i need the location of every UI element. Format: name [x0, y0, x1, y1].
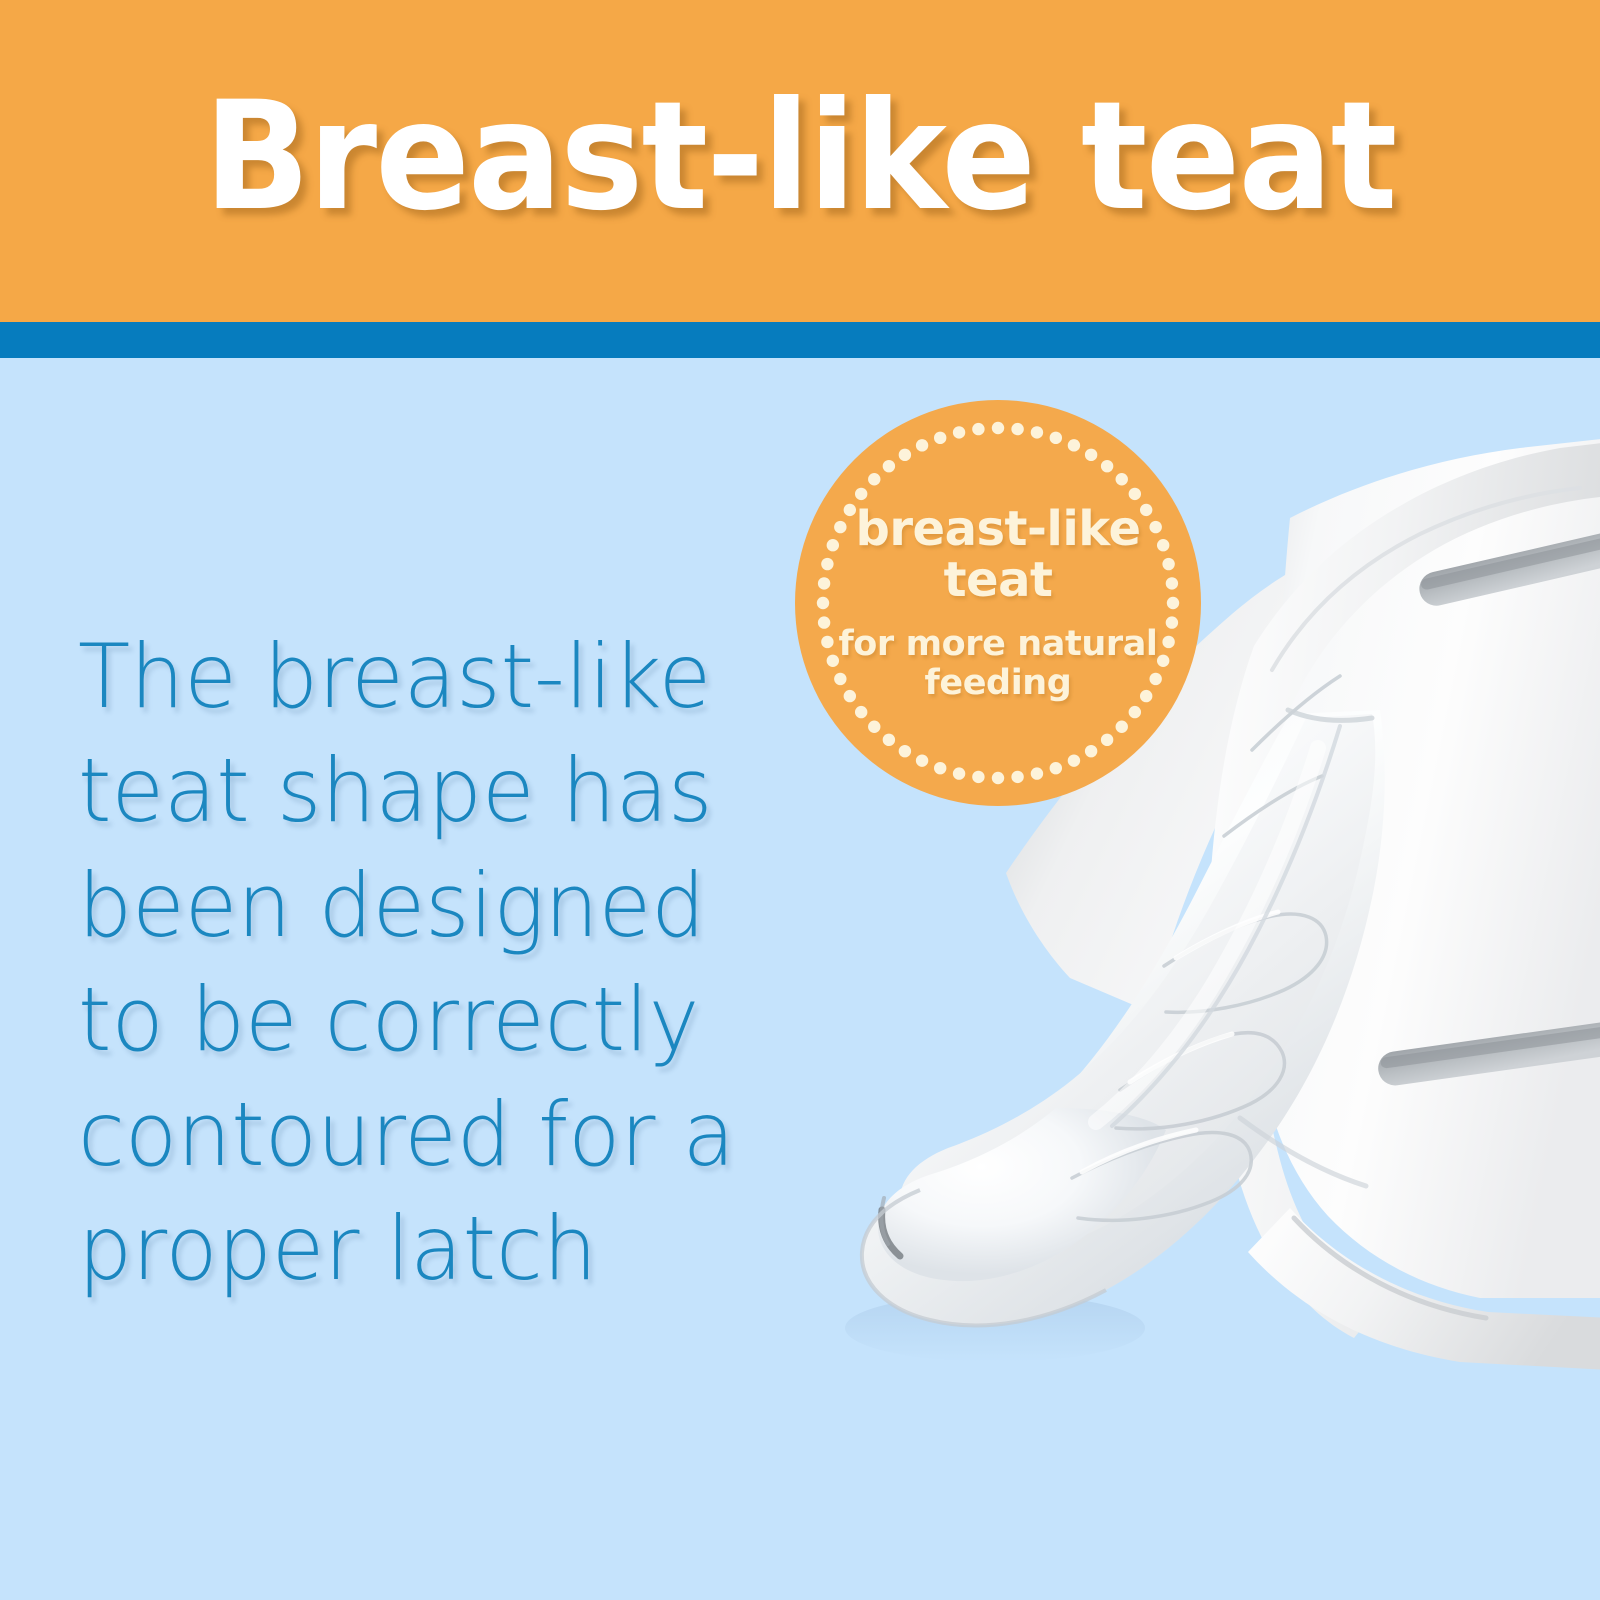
divider-bar	[0, 322, 1600, 358]
header-banner: Breast-like teat	[0, 0, 1600, 322]
badge-subtext: for more natural feeding	[838, 625, 1158, 702]
page-title: Breast-like teat	[204, 82, 1396, 232]
product-feature-card: Breast-like teat	[0, 0, 1600, 1600]
feature-description: The breast-like teat shape has been desi…	[78, 620, 757, 1306]
body-area: breast-like teat for more natural feedin…	[0, 358, 1600, 1600]
breast-like-teat-badge: breast-like teat for more natural feedin…	[795, 400, 1201, 806]
badge-headline: breast-like teat	[833, 504, 1163, 606]
badge-text-block: breast-like teat for more natural feedin…	[795, 400, 1201, 806]
